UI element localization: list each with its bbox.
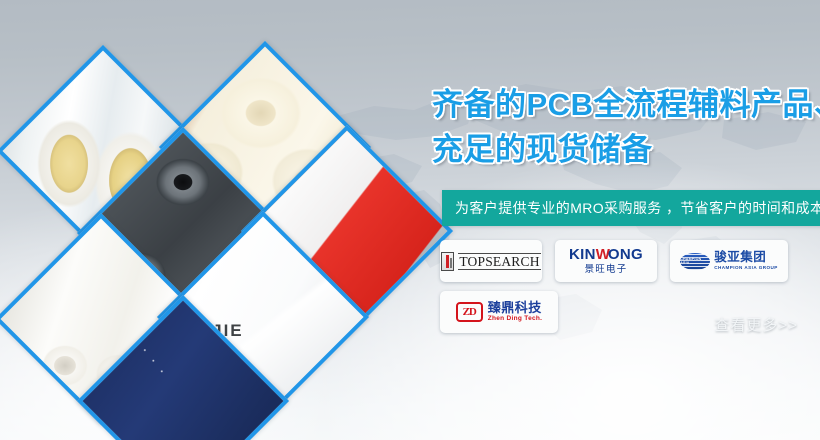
logo-card-topsearch[interactable]: TOPSEARCH — [440, 240, 542, 282]
client-logos-row-1: TOPSEARCH KINWONG 景旺电子 CHAMPION ASIA — [440, 240, 788, 282]
product-photo-collage — [0, 0, 420, 440]
kinwong-wordmark: KINWONG — [569, 247, 643, 262]
topsearch-wordmark: TOPSEARCH — [458, 253, 540, 270]
zhen-ding-english-name: Zhen Ding Tech. — [488, 316, 543, 323]
subtitle-text: 为客户提供专业的MRO采购服务 ，节省客户的时间和成本 — [442, 198, 820, 218]
kinwong-wordmark-part1: KIN — [569, 246, 596, 263]
champion-asia-english-name: CHAMPION ASIA GROUP — [714, 266, 778, 271]
globe-icon: CHAMPION ASIA — [680, 253, 710, 270]
topsearch-badge-icon — [441, 252, 454, 271]
zhen-ding-chinese-name: 臻鼎科技 — [488, 301, 543, 314]
client-logos-row-2: ZD 臻鼎科技 Zhen Ding Tech. — [440, 291, 558, 333]
promo-banner: 齐备的PCB全流程辅料产品、 充足的现货储备 为客户提供专业的MRO采购服务 ，… — [0, 0, 820, 440]
globe-icon-text: CHAMPION ASIA — [680, 257, 710, 265]
kinwong-wordmark-w: W — [596, 246, 608, 263]
kinwong-chinese-name: 景旺电子 — [569, 265, 643, 275]
headline-line-1: 齐备的PCB全流程辅料产品、 — [432, 82, 820, 127]
view-more-link[interactable]: 查看更多>> — [714, 314, 798, 335]
headline-line-2: 充足的现货储备 — [432, 127, 820, 172]
logo-card-zhen-ding[interactable]: ZD 臻鼎科技 Zhen Ding Tech. — [440, 291, 558, 333]
logo-card-champion-asia[interactable]: CHAMPION ASIA 骏亚集团 CHAMPION ASIA GROUP — [670, 240, 788, 282]
kinwong-wordmark-part3: ONG — [608, 246, 643, 263]
zd-monogram-icon: ZD — [456, 302, 483, 322]
headline: 齐备的PCB全流程辅料产品、 充足的现货储备 — [432, 82, 820, 172]
champion-asia-chinese-name: 骏亚集团 — [714, 251, 778, 264]
logo-card-kinwong[interactable]: KINWONG 景旺电子 — [555, 240, 657, 282]
subtitle-bar: 为客户提供专业的MRO采购服务 ，节省客户的时间和成本 — [442, 190, 820, 226]
banner-content: 齐备的PCB全流程辅料产品、 充足的现货储备 为客户提供专业的MRO采购服务 ，… — [424, 0, 820, 440]
